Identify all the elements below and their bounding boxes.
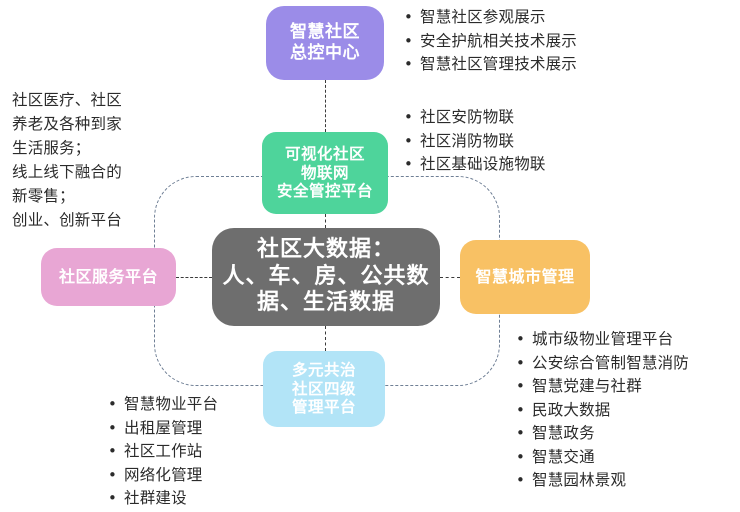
node-four-level-community-governance-platform[interactable]: 多元共治 社区四级 管理平台 [263,351,385,427]
connector-center-to-governance [325,326,326,351]
list-item: • 智慧党建与社群 [516,375,689,399]
list-item: • 网络化管理 [108,464,218,488]
diagram-canvas: 智慧社区 总控中心 可视化社区 物联网 安全管控平台 社区大数据： 人、车、房、… [0,0,740,512]
list-item: • 社群建设 [108,487,218,511]
list-item: • 智慧物业平台 [108,393,218,417]
bullet-marker-icon: • [516,399,532,422]
bullet-marker-icon: • [516,375,532,398]
bullet-marker-icon: • [516,422,532,445]
list-item: • 安全护航相关技术展示 [404,30,577,54]
bullets-top-control-center: • 智慧社区参观展示 • 安全护航相关技术展示 • 智慧社区管理技术展示 [404,6,577,77]
node-smart-community-control-center[interactable]: 智慧社区 总控中心 [266,6,384,80]
bullet-marker-icon: • [108,417,124,440]
node-gov-line-3: 管理平台 [292,398,356,417]
list-item: • 智慧政务 [516,422,689,446]
bullet-marker-icon: • [404,130,420,153]
bullet-marker-icon: • [108,487,124,510]
bullet-marker-icon: • [516,328,532,351]
list-item: • 城市级物业管理平台 [516,328,689,352]
bullet-marker-icon: • [108,393,124,416]
node-community-service-platform[interactable]: 社区服务平台 [41,248,176,306]
connector-visualization-to-center [325,214,326,228]
node-top-line-2: 总控中心 [290,43,360,64]
bullet-marker-icon: • [404,53,420,76]
node-visualized-community-iot-platform[interactable]: 可视化社区 物联网 安全管控平台 [262,132,388,214]
bullet-marker-icon: • [108,464,124,487]
bullets-visualization-platform: • 社区安防物联 • 社区消防物联 • 社区基础设施物联 [404,106,546,177]
node-viz-line-1: 可视化社区 [277,145,373,164]
bullet-marker-icon: • [404,30,420,53]
list-item: • 智慧社区管理技术展示 [404,53,577,77]
bullet-marker-icon: • [404,6,420,29]
bullets-governance-platform: • 智慧物业平台 • 出租屋管理 • 社区工作站 • 网络化管理 • 社群建设 [108,393,218,511]
bullets-smart-city-management: • 城市级物业管理平台 • 公安综合管制智慧消防 • 智慧党建与社群 • 民政大… [516,328,689,493]
list-item: • 智慧园林景观 [516,469,689,493]
list-item: • 社区安防物联 [404,106,546,130]
list-item: • 智慧社区参观展示 [404,6,577,30]
connector-center-to-city [440,277,460,278]
node-city-label: 智慧城市管理 [475,267,574,287]
bullet-marker-icon: • [404,153,420,176]
node-community-big-data[interactable]: 社区大数据： 人、车、房、公共数 据、生活数据 [212,228,440,326]
node-gov-line-2: 社区四级 [292,380,356,399]
node-viz-line-2: 物联网 [277,164,373,183]
node-center-line-1: 社区大数据： [222,237,429,264]
connector-top-to-visualization [325,80,326,132]
list-item: • 社区消防物联 [404,130,546,154]
list-item: • 智慧交通 [516,446,689,470]
node-smart-city-management[interactable]: 智慧城市管理 [460,240,590,314]
node-top-line-1: 智慧社区 [290,22,360,43]
node-gov-line-1: 多元共治 [292,361,356,380]
note-community-service-platform: 社区医疗、社区 养老及各种到家 生活服务； 线上线下融合的 新零售； 创业、创新… [12,88,202,232]
node-service-label: 社区服务平台 [59,267,158,287]
list-item: • 社区工作站 [108,440,218,464]
bullet-marker-icon: • [516,446,532,469]
bullet-marker-icon: • [516,352,532,375]
bullet-marker-icon: • [108,440,124,463]
connector-service-to-center [176,277,212,278]
list-item: • 出租屋管理 [108,417,218,441]
node-viz-line-3: 安全管控平台 [277,182,373,201]
node-center-line-2: 人、车、房、公共数 [222,264,429,291]
node-center-line-3: 据、生活数据 [222,290,429,317]
list-item: • 社区基础设施物联 [404,153,546,177]
list-item: • 公安综合管制智慧消防 [516,352,689,376]
list-item: • 民政大数据 [516,399,689,423]
bullet-marker-icon: • [404,106,420,129]
bullet-marker-icon: • [516,469,532,492]
